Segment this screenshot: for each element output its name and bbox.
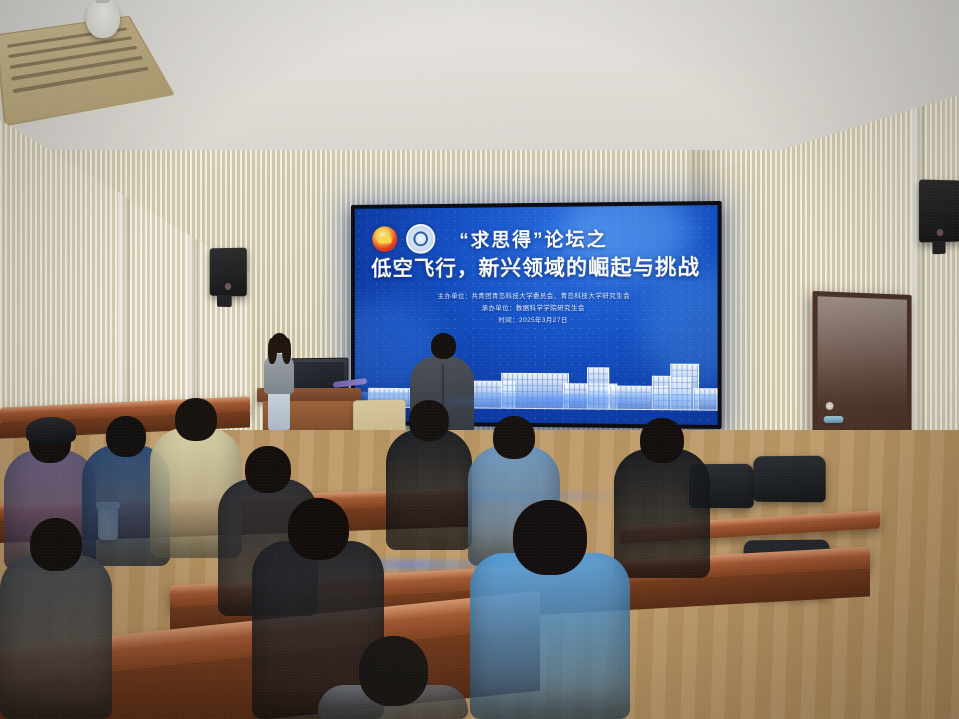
slide-title-line2: 低空飞行，新兴领域的崛起与挑战 <box>368 254 703 283</box>
right-wall-speaker-icon <box>919 180 959 243</box>
lecture-hall-photo: “求思得”论坛之 低空飞行，新兴领域的崛起与挑战 主办单位：共青团青岛科技大学委… <box>0 0 959 719</box>
ceiling-air-conditioner-vent <box>0 16 175 127</box>
person-head <box>288 498 349 560</box>
person-head <box>513 500 587 575</box>
person-head <box>30 518 82 571</box>
slide-text-block: “求思得”论坛之 低空飞行，新兴领域的崛起与挑战 主办单位：共青团青岛科技大学委… <box>355 227 718 327</box>
person-head <box>106 416 146 457</box>
slide-credit-line1: 主办单位：共青团青岛科技大学委员会、青岛科技大学研究生会 <box>368 291 703 304</box>
student-black-coat-front <box>386 400 472 550</box>
person-head <box>409 400 449 441</box>
person-head <box>359 636 428 706</box>
person-head <box>175 398 217 441</box>
person-head <box>245 446 291 493</box>
baseball-cap-icon <box>26 417 76 444</box>
door-handle-icon[interactable] <box>824 416 844 423</box>
slide-title-line1: “求思得”论坛之 <box>368 228 703 254</box>
person-head <box>493 416 535 459</box>
left-wall-speaker-icon <box>210 248 247 297</box>
person-head <box>640 418 684 463</box>
door-sheen <box>818 296 907 404</box>
student-grey-coat-left <box>0 518 112 719</box>
slide-credit-line2: 承办单位：数据科学学院研究生会 <box>368 303 703 315</box>
smoke-detector-icon <box>86 0 120 38</box>
person-torso <box>470 553 630 719</box>
person-torso <box>386 429 472 550</box>
door-lock-icon <box>826 402 834 410</box>
student-grey-hood-bottom <box>318 636 468 719</box>
student-blue-hoodie-front <box>470 500 630 719</box>
person-torso <box>0 555 112 719</box>
slide-credit-line3: 时间：2025年3月27日 <box>368 315 703 327</box>
